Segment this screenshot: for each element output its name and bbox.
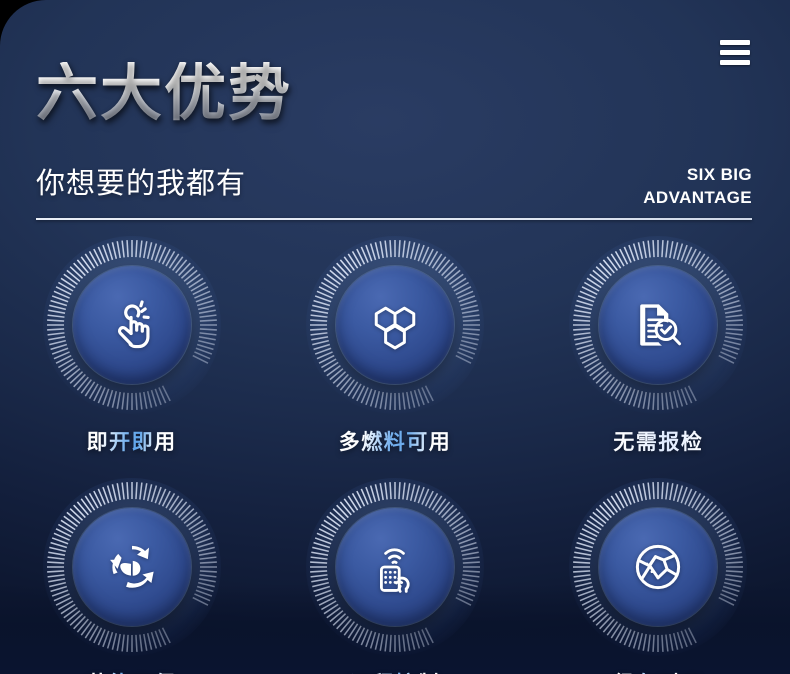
advantage-dial-5	[308, 480, 482, 654]
honeycomb-hexagon-molecule-icon	[365, 295, 425, 355]
advantage-dial-6	[571, 480, 745, 654]
menu-bar-2	[720, 50, 750, 55]
touch-hand-tap-icon	[102, 295, 162, 355]
advantage-page: 六大优势 你想要的我都有 SIX BIG ADVANTAGE	[0, 0, 790, 674]
english-subtitle-line2: ADVANTAGE	[643, 187, 752, 210]
advantage-disc-6	[599, 508, 717, 626]
page-title: 六大优势	[36, 62, 292, 125]
header-divider	[36, 218, 752, 220]
advantage-label-6: 经久耐用	[613, 668, 703, 674]
recycle-leaf-eco-icon	[102, 537, 162, 597]
advantage-label-4: 节能环保	[87, 668, 177, 674]
advantage-disc-4	[73, 508, 191, 626]
advantage-label-2: 多燃料可用	[339, 426, 452, 456]
advantage-dial-1	[45, 238, 219, 412]
advantage-disc-2	[336, 266, 454, 384]
advantage-item-4[interactable]: 节能环保	[0, 480, 263, 674]
advantage-item-6[interactable]: 经久耐用	[527, 480, 790, 674]
advantage-dial-2	[308, 238, 482, 412]
hamburger-menu-icon[interactable]	[720, 40, 750, 65]
advantage-label-3: 无需报检	[613, 426, 703, 456]
advantage-item-1[interactable]: 即开即用	[0, 238, 263, 456]
advantage-item-3[interactable]: 无需报检	[527, 238, 790, 456]
english-subtitle: SIX BIG ADVANTAGE	[643, 164, 752, 209]
advantages-grid: 即开即用 多燃料可用	[0, 238, 790, 674]
menu-bar-3	[720, 60, 750, 65]
advantage-disc-1	[73, 266, 191, 384]
advantage-item-2[interactable]: 多燃料可用	[263, 238, 526, 456]
advantage-label-5: 远程控制	[350, 668, 440, 674]
menu-bar-1	[720, 40, 750, 45]
document-magnifier-check-icon	[628, 295, 688, 355]
english-subtitle-line1: SIX BIG	[643, 164, 752, 187]
page-subtitle: 你想要的我都有	[36, 160, 246, 202]
advantage-label-1: 即开即用	[87, 426, 177, 456]
hand-remote-control-signal-icon	[365, 537, 425, 597]
advantage-disc-3	[599, 266, 717, 384]
advantage-disc-5	[336, 508, 454, 626]
handshake-circle-icon	[628, 537, 688, 597]
page-header: 六大优势 你想要的我都有 SIX BIG ADVANTAGE	[0, 0, 790, 232]
advantage-dial-4	[45, 480, 219, 654]
advantage-item-5[interactable]: 远程控制	[263, 480, 526, 674]
advantage-dial-3	[571, 238, 745, 412]
